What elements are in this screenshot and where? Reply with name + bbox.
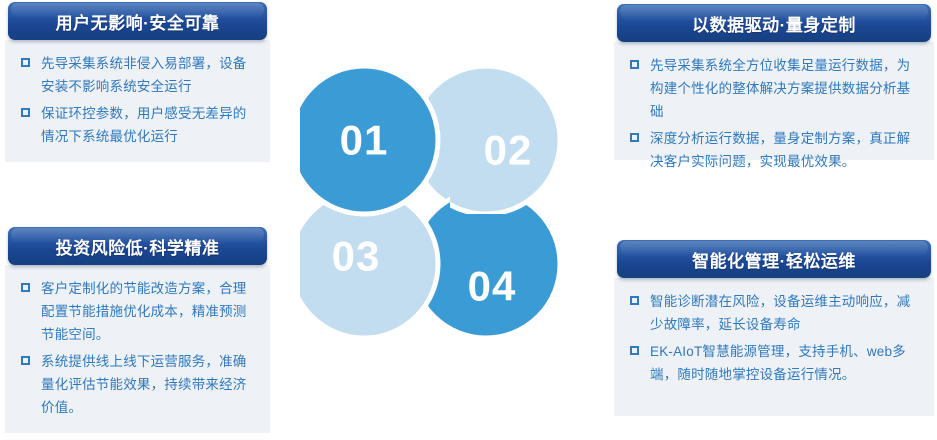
list-item-text: 深度分析运行数据，量身定制方案，真正解决客户实际问题，实现最优效果。 bbox=[650, 127, 920, 173]
list-item-text: EK-AIoT智慧能源管理，支持手机、web多端，随时随地掌控设备运行情况。 bbox=[650, 340, 920, 386]
panel-bottom-right-body: 智能诊断潜在风险，设备运维主动响应，减少故障率，延长设备寿命 EK-AIoT智慧… bbox=[614, 278, 934, 416]
panel-top-right: 以数据驱动·量身定制 先导采集系统全方位收集足量运行数据，为构建个性化的整体解决… bbox=[614, 4, 934, 160]
panel-top-left: 用户无影响·安全可靠 先导采集系统非侵入易部署，设备安装不影响系统安全运行 保证… bbox=[5, 2, 270, 162]
panel-bottom-left: 投资风险低·科学精准 客户定制化的节能改造方案，合理配置节能措施优化成本，精准预… bbox=[5, 227, 270, 433]
pinwheel-label-04: 04 bbox=[468, 263, 517, 310]
pinwheel-circles bbox=[300, 66, 560, 338]
panel-bottom-right-header: 智能化管理·轻松运维 bbox=[617, 240, 931, 278]
list-item-text: 智能诊断潜在风险，设备运维主动响应，减少故障率，延长设备寿命 bbox=[650, 290, 920, 336]
square-bullet-icon bbox=[21, 108, 30, 117]
list-item: 智能诊断潜在风险，设备运维主动响应，减少故障率，延长设备寿命 bbox=[622, 290, 920, 336]
pinwheel-label-02: 02 bbox=[484, 127, 533, 174]
panel-top-right-header: 以数据驱动·量身定制 bbox=[617, 4, 931, 42]
pinwheel-label-01: 01 bbox=[340, 117, 389, 164]
list-item-text: 先导采集系统非侵入易部署，设备安装不影响系统安全运行 bbox=[41, 52, 256, 98]
list-item: 系统提供线上线下运营服务，准确量化评估节能效果，持续带来经济价值。 bbox=[13, 350, 256, 419]
panel-top-left-title: 用户无影响·安全可靠 bbox=[56, 9, 220, 34]
bullet-list: 先导采集系统非侵入易部署，设备安装不影响系统安全运行 保证环控参数，用户感受无差… bbox=[13, 52, 256, 148]
panel-top-right-body: 先导采集系统全方位收集足量运行数据，为构建个性化的整体解决方案提供数据分析基础 … bbox=[614, 42, 934, 160]
panel-bottom-right-title: 智能化管理·轻松运维 bbox=[692, 247, 856, 272]
panel-bottom-left-title: 投资风险低·科学精准 bbox=[56, 234, 220, 259]
panel-top-left-header: 用户无影响·安全可靠 bbox=[8, 2, 267, 40]
list-item: EK-AIoT智慧能源管理，支持手机、web多端，随时随地掌控设备运行情况。 bbox=[622, 340, 920, 386]
pinwheel-label-03: 03 bbox=[332, 233, 381, 280]
square-bullet-icon bbox=[21, 58, 30, 67]
list-item-text: 先导采集系统全方位收集足量运行数据，为构建个性化的整体解决方案提供数据分析基础 bbox=[650, 54, 920, 123]
square-bullet-icon bbox=[630, 60, 639, 69]
list-item: 先导采集系统非侵入易部署，设备安装不影响系统安全运行 bbox=[13, 52, 256, 98]
list-item-text: 系统提供线上线下运营服务，准确量化评估节能效果，持续带来经济价值。 bbox=[41, 350, 256, 419]
list-item: 先导采集系统全方位收集足量运行数据，为构建个性化的整体解决方案提供数据分析基础 bbox=[622, 54, 920, 123]
list-item: 深度分析运行数据，量身定制方案，真正解决客户实际问题，实现最优效果。 bbox=[622, 127, 920, 173]
square-bullet-icon bbox=[630, 346, 639, 355]
list-item: 客户定制化的节能改造方案，合理配置节能措施优化成本，精准预测节能空间。 bbox=[13, 277, 256, 346]
square-bullet-icon bbox=[630, 296, 639, 305]
square-bullet-icon bbox=[21, 356, 30, 365]
panel-top-right-title: 以数据驱动·量身定制 bbox=[692, 11, 856, 36]
pinwheel-diagram: 01 02 03 04 bbox=[300, 18, 600, 368]
panel-bottom-left-body: 客户定制化的节能改造方案，合理配置节能措施优化成本，精准预测节能空间。 系统提供… bbox=[5, 265, 270, 433]
panel-bottom-right: 智能化管理·轻松运维 智能诊断潜在风险，设备运维主动响应，减少故障率，延长设备寿… bbox=[614, 240, 934, 416]
panel-bottom-left-header: 投资风险低·科学精准 bbox=[8, 227, 267, 265]
square-bullet-icon bbox=[21, 283, 30, 292]
panel-top-left-body: 先导采集系统非侵入易部署，设备安装不影响系统安全运行 保证环控参数，用户感受无差… bbox=[5, 40, 270, 162]
bullet-list: 先导采集系统全方位收集足量运行数据，为构建个性化的整体解决方案提供数据分析基础 … bbox=[622, 54, 920, 173]
list-item: 保证环控参数，用户感受无差异的情况下系统最优化运行 bbox=[13, 102, 256, 148]
bullet-list: 客户定制化的节能改造方案，合理配置节能措施优化成本，精准预测节能空间。 系统提供… bbox=[13, 277, 256, 419]
square-bullet-icon bbox=[630, 133, 639, 142]
bullet-list: 智能诊断潜在风险，设备运维主动响应，减少故障率，延长设备寿命 EK-AIoT智慧… bbox=[622, 290, 920, 386]
list-item-text: 保证环控参数，用户感受无差异的情况下系统最优化运行 bbox=[41, 102, 256, 148]
list-item-text: 客户定制化的节能改造方案，合理配置节能措施优化成本，精准预测节能空间。 bbox=[41, 277, 256, 346]
